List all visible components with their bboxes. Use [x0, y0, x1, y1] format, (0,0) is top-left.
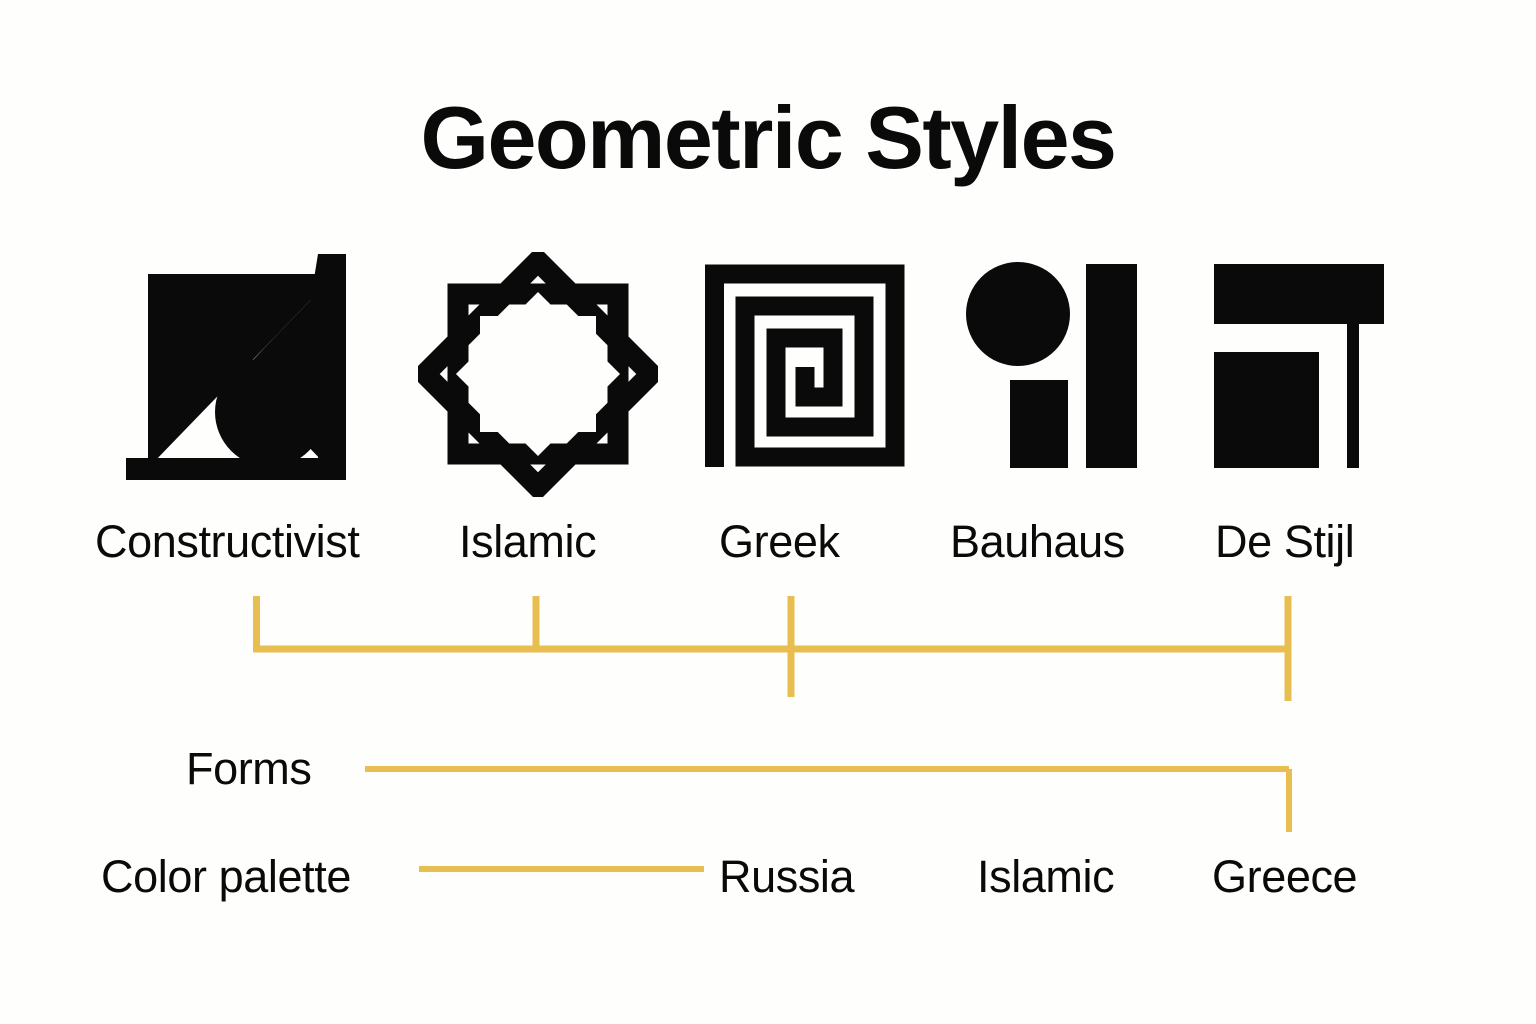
islamic-star-icon [418, 252, 658, 497]
style-connector-bracket [0, 560, 1536, 740]
page-title: Geometric Styles [0, 92, 1536, 184]
forms-connector [0, 740, 1536, 850]
geometric-styles-diagram: Geometric Styles [0, 0, 1536, 1024]
origin-label-russia: Russia [719, 851, 854, 903]
origin-label-greece: Greece [1212, 851, 1357, 903]
icon-row [0, 252, 1536, 502]
de-stijl-icon [1208, 252, 1398, 497]
origin-label-islamic: Islamic [977, 851, 1114, 903]
greek-meander-icon [705, 252, 905, 497]
constructivist-icon [118, 252, 353, 497]
bauhaus-shapes-icon [965, 252, 1145, 497]
